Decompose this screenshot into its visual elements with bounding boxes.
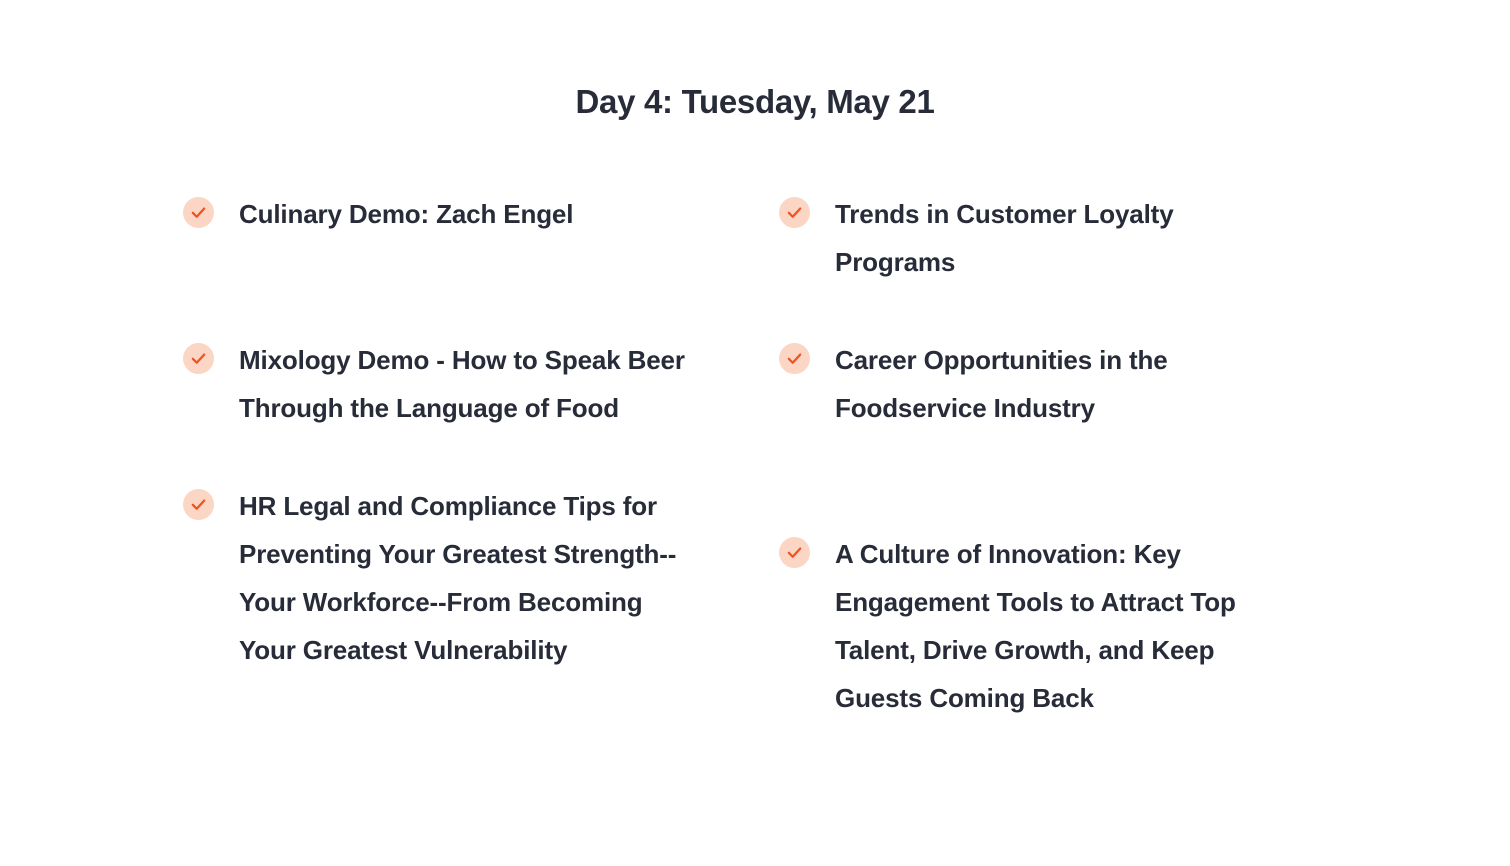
list-item[interactable]: Mixology Demo - How to Speak Beer Throug… (183, 336, 779, 432)
list-item[interactable]: Career Opportunities in the Foodservice … (779, 336, 1319, 432)
check-icon (779, 537, 810, 568)
session-title: Career Opportunities in the Foodservice … (835, 336, 1275, 432)
session-title: Culinary Demo: Zach Engel (239, 190, 573, 238)
session-column-left: Culinary Demo: Zach Engel Mixology Demo … (183, 190, 779, 674)
list-item[interactable]: Culinary Demo: Zach Engel (183, 190, 779, 238)
session-column-right: Trends in Customer Loyalty Programs Care… (779, 190, 1319, 722)
session-title: A Culture of Innovation: Key Engagement … (835, 530, 1275, 722)
check-icon (779, 343, 810, 374)
check-icon (183, 343, 214, 374)
session-title: Mixology Demo - How to Speak Beer Throug… (239, 336, 691, 432)
list-item[interactable]: Trends in Customer Loyalty Programs (779, 190, 1319, 286)
check-icon (183, 197, 214, 228)
page-title: Day 4: Tuesday, May 21 (0, 80, 1510, 124)
list-item[interactable]: HR Legal and Compliance Tips for Prevent… (183, 482, 779, 674)
list-item[interactable]: A Culture of Innovation: Key Engagement … (779, 530, 1319, 722)
session-title: Trends in Customer Loyalty Programs (835, 190, 1275, 286)
session-columns: Culinary Demo: Zach Engel Mixology Demo … (183, 190, 1343, 722)
day-schedule-page: Day 4: Tuesday, May 21 Culinary Demo: Za… (0, 0, 1510, 866)
check-icon (779, 197, 810, 228)
check-icon (183, 489, 214, 520)
session-title: HR Legal and Compliance Tips for Prevent… (239, 482, 691, 674)
